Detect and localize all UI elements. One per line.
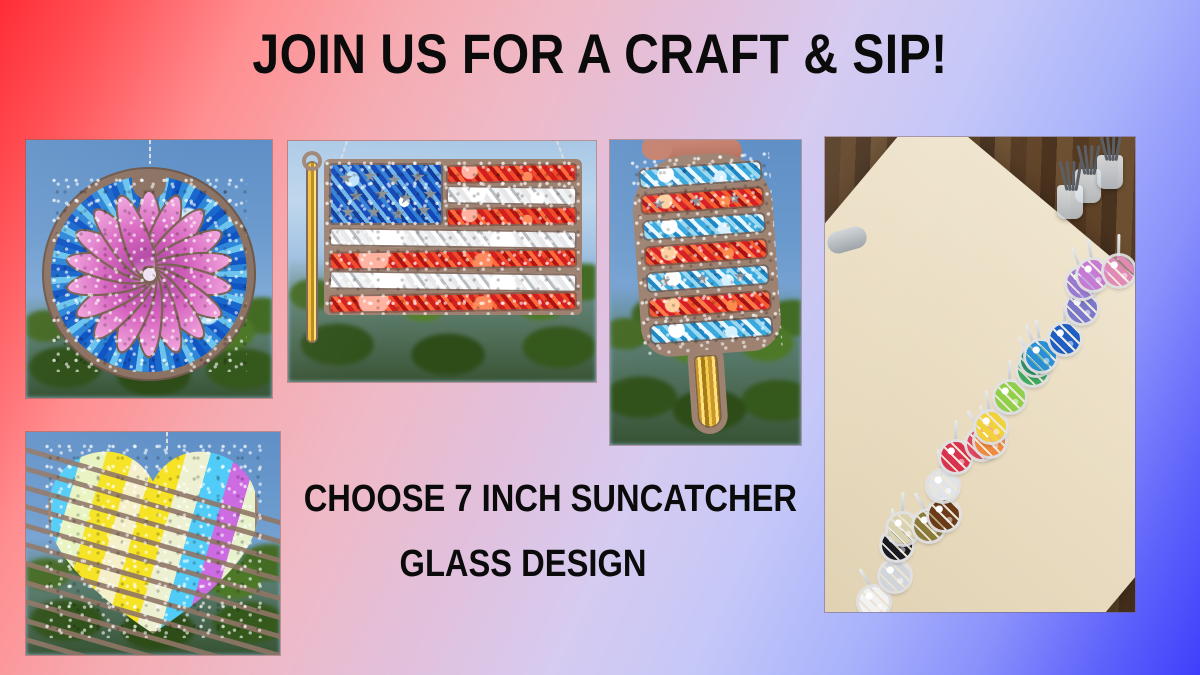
popsicle-assembly (636, 154, 776, 429)
american-flag-suncatcher-photo (288, 141, 596, 382)
popsicle-suncatcher-photo (610, 140, 801, 445)
flag-star (367, 205, 381, 219)
thumb (642, 140, 672, 160)
flag-star (399, 191, 413, 205)
subtitle-line-1: CHOOSE 7 INCH SUNCATCHER (304, 480, 743, 518)
popsicle-stripe (641, 212, 766, 242)
hanging-chain (149, 140, 151, 164)
flag-stripe (446, 185, 577, 206)
popsicle-stripe (637, 160, 762, 190)
heart-assembly (44, 442, 262, 638)
page-title: JOIN US FOR A CRAFT & SIP! (84, 26, 1116, 82)
glass-chip-jar (1104, 256, 1134, 286)
popsicle-stripe (648, 316, 773, 346)
flagpole (306, 161, 318, 343)
flag-canton (329, 163, 443, 225)
flag-stripe (329, 248, 577, 270)
flag-star (417, 203, 431, 217)
rainbow-heart-suncatcher-photo (26, 432, 280, 655)
flag-star (349, 189, 363, 203)
popsicle-stripe (646, 290, 771, 320)
flag-star (423, 187, 437, 201)
pinwheel-suncatcher-photo (26, 140, 272, 398)
popsicle-stick-glass (693, 354, 722, 428)
popsicle-stick (687, 349, 729, 435)
flag-star (411, 170, 425, 184)
pinwheel-center-hub (143, 268, 156, 281)
popsicle-stripe (643, 238, 768, 268)
glass-chip-jar (859, 587, 889, 612)
glass-chip-jar (1050, 324, 1080, 354)
flag-star (341, 205, 355, 219)
flyer-canvas: JOIN US FOR A CRAFT & SIP! CHOOSE 7 INCH… (0, 0, 1200, 675)
flag-stripe (329, 291, 577, 313)
popsicle-body (629, 149, 783, 358)
flag-assembly (302, 159, 584, 345)
flag-body (324, 159, 582, 315)
flag-star (391, 207, 405, 221)
flag-stripe (329, 227, 577, 249)
flagpole-knob (302, 151, 322, 171)
flag-stripe (446, 206, 577, 227)
glass-chip-jar (976, 412, 1006, 442)
craft-table-supplies-photo (825, 137, 1135, 612)
heart-wood-frame (44, 442, 262, 638)
flag-star (339, 171, 353, 185)
subtitle-line-2: GLASS DESIGN (304, 545, 743, 583)
pinwheel-disc (51, 176, 247, 372)
glass-chip-jar (929, 500, 959, 530)
flag-star (363, 169, 377, 183)
flag-star (387, 173, 401, 187)
flag-stripe (446, 163, 577, 184)
flag-stripe (329, 270, 577, 292)
flag-star (375, 187, 389, 201)
